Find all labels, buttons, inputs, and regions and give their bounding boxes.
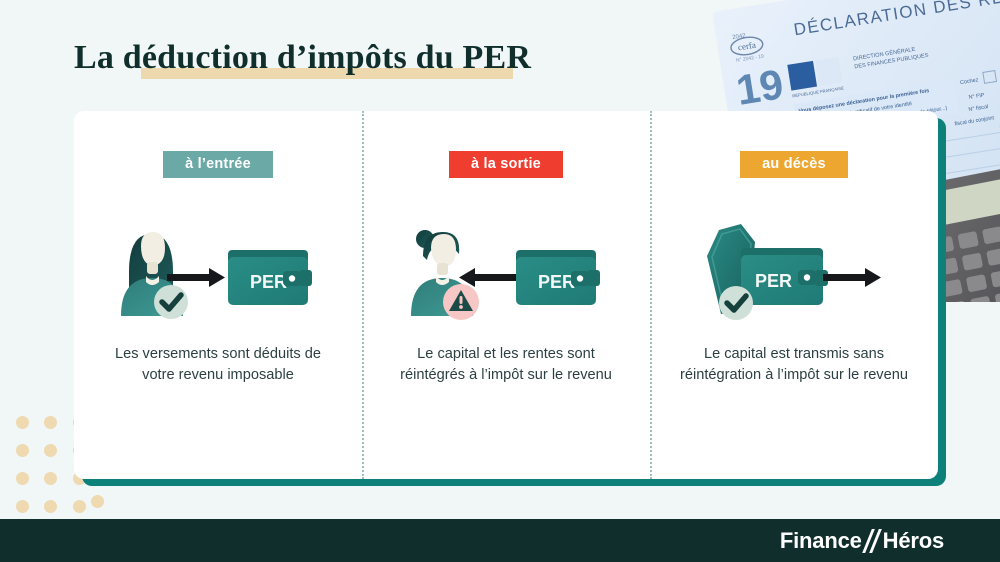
slide-canvas: DÉCLARATION DES REVENUS 2042 cerfa N° 20… — [0, 0, 1000, 562]
column-entree: à l’entrée — [74, 111, 362, 479]
decor-dot — [16, 444, 29, 457]
decor-dot — [73, 500, 86, 513]
form-field-label-4: fiscal du conjoint — [954, 115, 995, 127]
decor-dot — [16, 416, 29, 429]
decor-dot — [16, 500, 29, 513]
arrow-right-icon — [167, 268, 225, 287]
badge-entree: à l’entrée — [163, 151, 273, 178]
caption-entree: Les versements sont déduits de votre rev… — [98, 344, 338, 386]
form-ref: N° 2042 - 19 — [736, 53, 765, 63]
logo-text-finance: Finance — [780, 528, 862, 554]
wallet-label: PER — [538, 272, 575, 292]
column-sortie: à la sortie — [362, 111, 650, 479]
form-logo: cerfa — [737, 40, 756, 53]
finance-heros-logo[interactable]: Finance Héros — [780, 528, 944, 554]
per-wallet-icon: PER — [228, 250, 312, 305]
wallet-label: PER — [755, 271, 792, 291]
decor-dot — [44, 500, 57, 513]
decor-dot — [44, 444, 57, 457]
illustration-entree: PER — [92, 208, 344, 326]
form-field-label-3: N° fiscal — [968, 104, 989, 113]
decor-dot — [44, 472, 57, 485]
content-card: à l’entrée — [74, 111, 938, 479]
wallet-label: PER — [250, 272, 287, 292]
form-authority-line1: DIRECTION GÉNÉRALE — [853, 46, 916, 63]
caption-deces: Le capital est transmis sans réintégrati… — [674, 344, 914, 386]
form-title: DÉCLARATION DES REVENUS — [792, 0, 1000, 39]
per-wallet-icon: PER — [516, 250, 600, 305]
form-number: 19 — [733, 60, 786, 114]
illustration-deces: PER — [668, 208, 920, 326]
page-title: La déduction d’impôts du PER — [74, 38, 531, 77]
logo-double-slash-icon — [863, 529, 882, 553]
form-field-label-1: Cochez — [960, 77, 979, 86]
badge-sortie: à la sortie — [449, 151, 563, 178]
warning-triangle-icon — [443, 284, 479, 320]
caption-sortie: Le capital et les rentes sont réintégrés… — [386, 344, 626, 386]
decor-dot — [91, 495, 104, 508]
decor-dot — [16, 472, 29, 485]
form-field-label-2: N° FIP — [968, 92, 985, 100]
check-circle-icon — [719, 286, 753, 320]
logo-text-heros: Héros — [883, 528, 944, 554]
arrow-left-icon — [459, 268, 521, 287]
check-circle-icon — [154, 285, 188, 319]
badge-deces: au décès — [740, 151, 848, 178]
per-wallet-icon: PER — [741, 248, 828, 305]
column-deces: au décès — [650, 111, 938, 479]
footer-bar: Finance Héros — [0, 519, 1000, 562]
form-authority-line2: DES FINANCES PUBLIQUES — [854, 53, 929, 71]
form-republic: RÉPUBLIQUE FRANÇAISE — [792, 85, 844, 98]
decor-dot — [44, 416, 57, 429]
form-year-code: 2042 — [732, 33, 747, 41]
page-title-wrapper: La déduction d’impôts du PER — [74, 38, 531, 77]
illustration-sortie: PER — [380, 208, 632, 326]
arrow-right-icon — [823, 268, 881, 287]
